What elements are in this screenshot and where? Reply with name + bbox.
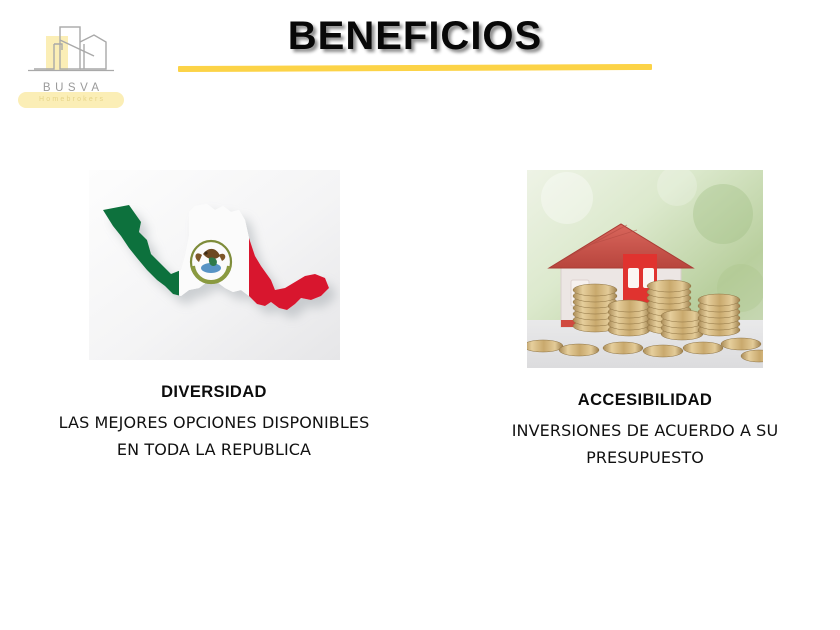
benefit-caption: ACCESIBILIDAD INVERSIONES DE ACUERDO A S… [465, 390, 825, 471]
benefit-description-line: LAS MEJORES OPCIONES DISPONIBLES [22, 409, 406, 436]
title-underline-bar [178, 64, 652, 72]
benefit-card: DIVERSIDAD LAS MEJORES OPCIONES DISPONIB… [22, 170, 406, 463]
benefit-description-line: EN TODA LA REPUBLICA [22, 436, 406, 463]
benefit-description-line: PRESUPUESTO [465, 444, 825, 471]
page-title: BENEFICIOS [178, 14, 652, 59]
brand-logo[interactable]: BUSVA Homebrokers [16, 22, 126, 112]
benefit-card: ACCESIBILIDAD INVERSIONES DE ACUERDO A S… [465, 170, 825, 471]
logo-tagline: Homebrokers [18, 93, 124, 107]
benefit-description-line: INVERSIONES DE ACUERDO A SU [465, 417, 825, 444]
benefit-description: LAS MEJORES OPCIONES DISPONIBLES EN TODA… [22, 409, 406, 463]
benefit-caption: DIVERSIDAD LAS MEJORES OPCIONES DISPONIB… [22, 382, 406, 463]
benefit-title: ACCESIBILIDAD [465, 390, 825, 410]
mexico-map-flag-image [89, 170, 340, 360]
benefit-description: INVERSIONES DE ACUERDO A SU PRESUPUESTO [465, 417, 825, 471]
house-with-coins-image [527, 170, 763, 368]
building-outline-icon [16, 22, 126, 84]
benefit-title: DIVERSIDAD [22, 382, 406, 402]
